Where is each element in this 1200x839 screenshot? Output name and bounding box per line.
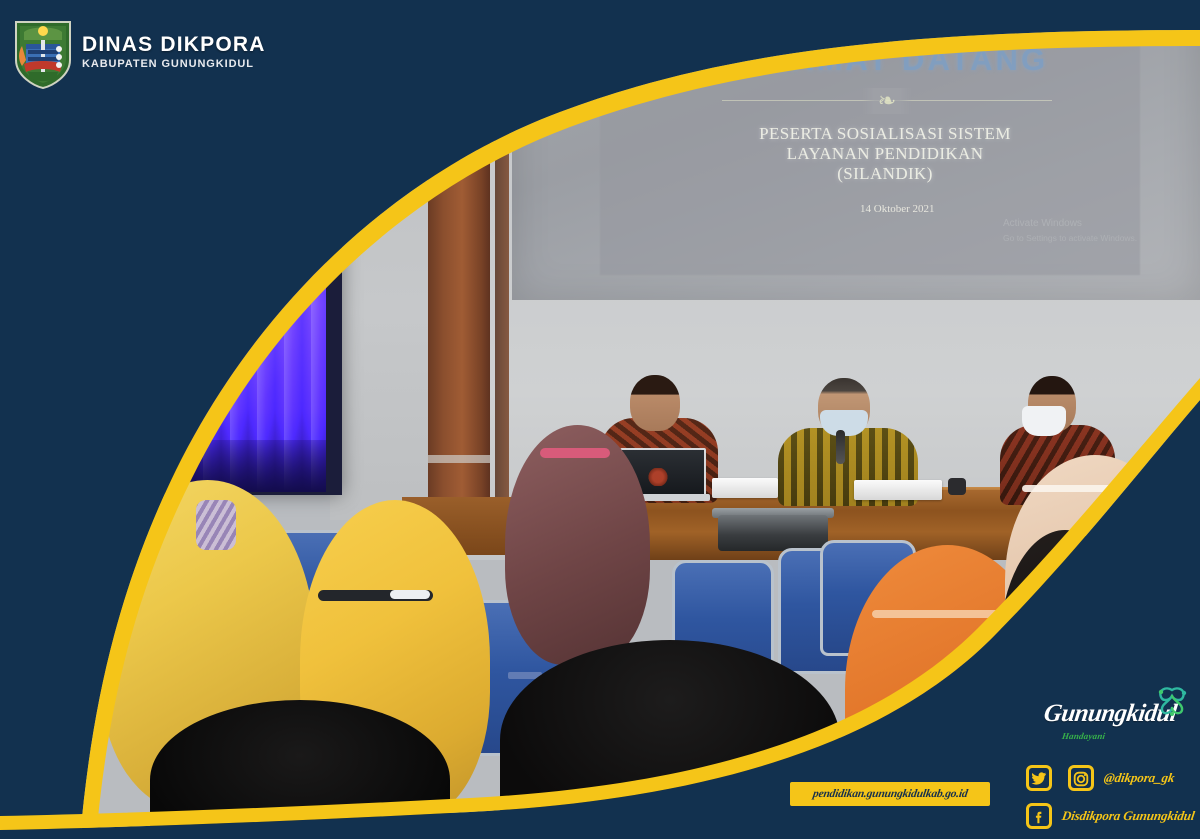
slide-subtitle: PESERTA SOSIALISASI SISTEM LAYANAN PENDI…	[660, 124, 1110, 184]
gunungkidul-flourish-icon	[1152, 684, 1192, 718]
name-plate-center	[854, 480, 942, 500]
speaker-right-face-mask	[1022, 406, 1066, 436]
laptop-screen-logo	[648, 468, 668, 486]
audience-hijab-gold-right-maskstrap	[390, 590, 430, 599]
instagram-icon[interactable]	[1068, 765, 1094, 791]
wood-pillar-secondary	[495, 0, 509, 500]
wood-pillar	[428, 0, 490, 520]
microphone	[836, 430, 845, 464]
curtain-rod-finial	[336, 99, 354, 118]
speaker-left-head	[630, 375, 680, 431]
slide-subtitle-line-1: PESERTA SOSIALISASI SISTEM	[660, 124, 1110, 144]
audience-head-dark-center	[500, 640, 840, 839]
website-url-badge[interactable]: pendidikan.gunungkidulkab.go.id	[790, 782, 990, 806]
event-photograph: SELAMAT DATANG ❧ PESERTA SOSIALISASI SIS…	[0, 0, 1200, 839]
website-url-text: pendidikan.gunungkidulkab.go.id	[812, 788, 968, 800]
wall-left	[330, 0, 440, 520]
audience-hijab-orange-strap	[872, 610, 1012, 618]
slide-date: 14 Oktober 2021	[860, 203, 1080, 215]
name-plate-left	[712, 478, 778, 498]
windows-activation-watermark-title: Activate Windows	[1003, 218, 1200, 229]
slide-subtitle-line-3: (SILANDIK)	[660, 164, 1110, 184]
audience-hijab-pink	[8, 415, 113, 560]
promotional-banner: SELAMAT DATANG ❧ PESERTA SOSIALISASI SIS…	[0, 0, 1200, 839]
slide-welcome-heading: SELAMAT DATANG	[660, 42, 1110, 78]
windows-activation-watermark-body: Go to Settings to activate Windows.	[1003, 233, 1193, 244]
instagram-handle[interactable]: @dikpora_gk	[1103, 770, 1176, 786]
facebook-icon[interactable]	[1026, 803, 1052, 829]
audience-hijab-gold-left-pin	[196, 500, 236, 550]
curtain-rod	[58, 104, 348, 113]
slide-subtitle-line-2: LAYANAN PENDIDIKAN	[660, 144, 1110, 164]
audience-hijab-maroon	[505, 425, 650, 665]
audience-hijab-cream-strap	[1022, 485, 1142, 492]
org-title: DINAS DIKPORA	[82, 33, 266, 57]
audience-hijab-maroon-tie	[540, 448, 610, 458]
audience-hijab-red	[0, 560, 60, 730]
table-microphone-base	[948, 478, 966, 495]
gunungkidul-tagline: Handayani	[1061, 731, 1106, 741]
projector-device	[718, 515, 828, 551]
twitter-icon[interactable]	[1026, 765, 1052, 791]
podium-carved-crest	[8, 338, 168, 372]
facebook-handle[interactable]: Disdikpora Gunungkidul	[1061, 808, 1196, 824]
slide-ornament-icon: ❧	[862, 88, 912, 114]
gunungkidul-emblem-icon	[12, 16, 74, 90]
org-subtitle: KABUPATEN GUNUNGKIDUL	[82, 58, 254, 70]
wood-pillar-band-lower	[428, 455, 490, 463]
podium-top-surface	[0, 368, 182, 386]
wood-pillar-band	[428, 150, 490, 160]
audience-mask-pink	[22, 465, 98, 479]
